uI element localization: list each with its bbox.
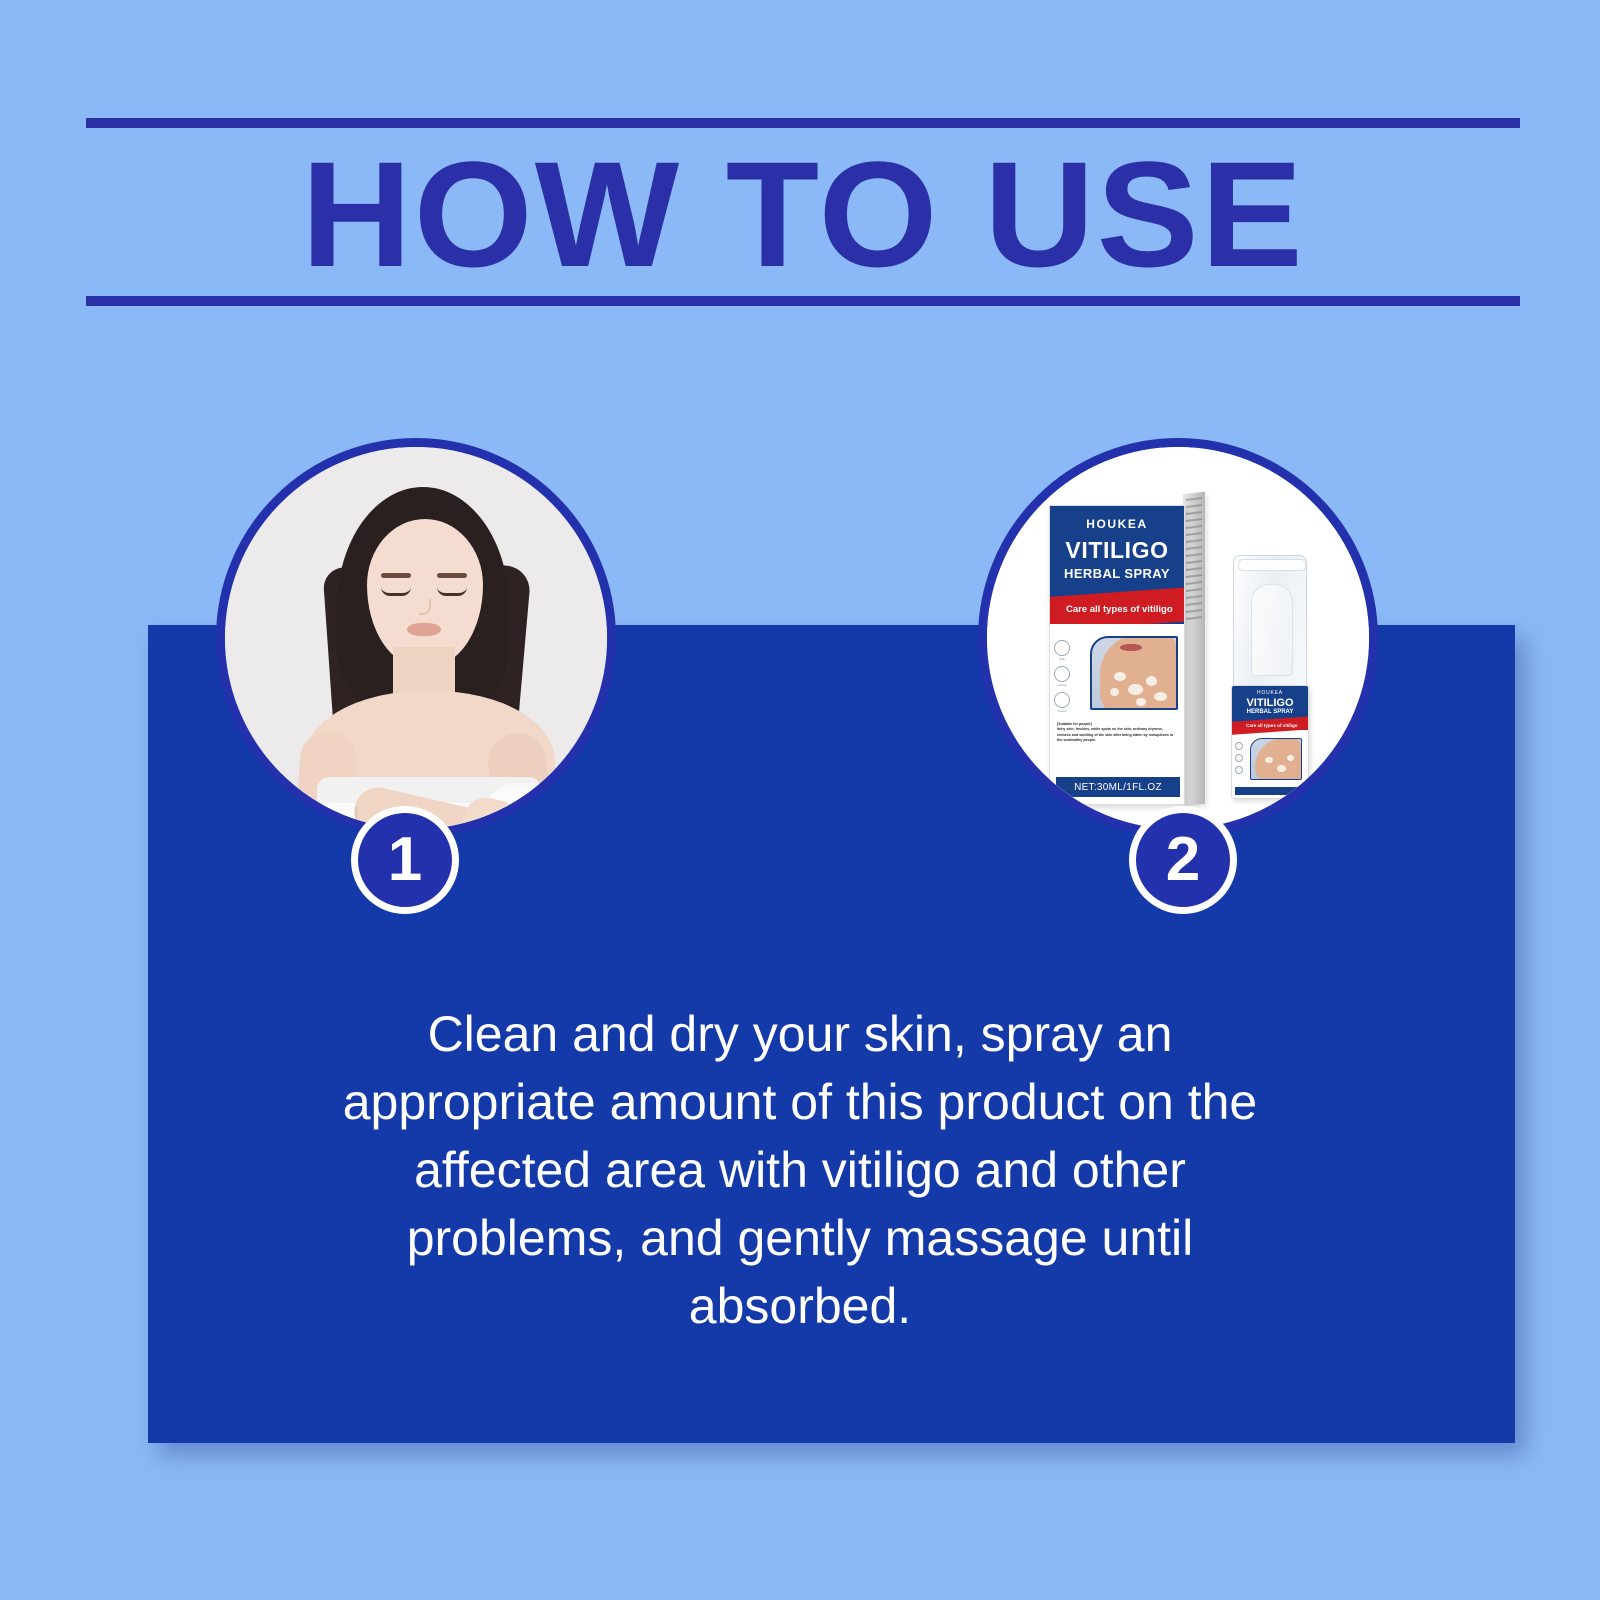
product-box-model-photo [1090, 636, 1178, 710]
fineprint-body: Itchy skin, freckles, white spots on the… [1057, 727, 1177, 743]
step-1-circle-frame [216, 438, 616, 838]
quality-approved-badge-label: Tested [1050, 709, 1074, 713]
safe-ingredients-badge-icon [1054, 640, 1070, 656]
eyebrow-left [381, 573, 411, 578]
product-box-front: HOUKEA VITILIGO HERBAL SPRAY Care all ty… [1049, 505, 1185, 805]
bottle-product-name: VITILIGO [1232, 697, 1308, 709]
bottle-product-subtitle: HERBAL SPRAY [1232, 709, 1308, 715]
vitiligo-patch [1114, 672, 1126, 681]
instruction-text: Clean and dry your skin, spray an approp… [330, 1000, 1270, 1340]
eye-right [437, 587, 467, 596]
product-net-content-bar: NET:30ML/1FL.OZ [1056, 777, 1180, 797]
product-box-side-panel [1183, 492, 1205, 807]
vitiligo-herbal-spray-product-photo: HOUKEA VITILIGO HERBAL SPRAY Care all ty… [987, 447, 1369, 829]
vitiligo-patch [1265, 757, 1273, 763]
step-2-image-circle: HOUKEA VITILIGO HERBAL SPRAY Care all ty… [978, 438, 1378, 838]
product-banner-text: Care all types of vitiligo [1066, 604, 1173, 615]
bottle-pump-head [1251, 584, 1293, 676]
vitiligo-patch [1136, 698, 1146, 706]
page-title: HOW TO USE [72, 128, 1535, 296]
woman-with-towel-photo [225, 447, 607, 829]
safe-ingredients-badge-icon [1235, 742, 1243, 750]
product-fineprint: [Suitable for people] Itchy skin, freckl… [1057, 722, 1177, 744]
bottle-body-label: HOUKEA VITILIGO HERBAL SPRAY Care all ty… [1231, 685, 1309, 799]
header-block: HOW TO USE [86, 118, 1520, 306]
bottle-cap-top [1238, 559, 1306, 571]
bottle-net-content-bar [1235, 787, 1307, 795]
vitiligo-patch [1277, 765, 1286, 772]
eye-left [381, 587, 411, 596]
vitiligo-patch [1110, 688, 1119, 696]
plant-extract-badge-icon [1235, 754, 1243, 762]
bottle-banner: Care all types of vitiligo [1231, 716, 1309, 735]
quality-approved-badge-icon [1235, 766, 1243, 774]
plant-extract-badge-icon [1054, 666, 1070, 682]
bottle-banner-text: Care all types of vitiligo [1246, 723, 1298, 728]
lips [407, 623, 441, 636]
step-2-circle-frame: HOUKEA VITILIGO HERBAL SPRAY Care all ty… [978, 438, 1378, 838]
bottle-cap [1233, 555, 1307, 689]
model-skin [1255, 738, 1301, 780]
product-box-header: HOUKEA VITILIGO HERBAL SPRAY Care all ty… [1050, 506, 1184, 624]
product-net-content: NET:30ML/1FL.OZ [1074, 782, 1162, 793]
vitiligo-patch [1154, 692, 1167, 701]
spray-bottle: HOUKEA VITILIGO HERBAL SPRAY Care all ty… [1231, 555, 1309, 799]
safe-ingredients-badge-label: Safe [1050, 657, 1074, 661]
step-1-number-badge: 1 [351, 806, 459, 914]
product-subtitle: HERBAL SPRAY [1050, 566, 1184, 581]
bottle-cert-badges [1235, 742, 1247, 778]
eyebrow-right [437, 573, 467, 578]
step-1-image-circle [216, 438, 616, 838]
product-brand: HOUKEA [1050, 517, 1184, 531]
model-lips [1120, 644, 1142, 651]
step-2-number-badge: 2 [1129, 806, 1237, 914]
vitiligo-patch [1287, 755, 1294, 761]
product-name: VITILIGO [1050, 537, 1184, 564]
bottle-model-photo [1250, 738, 1302, 780]
plant-extract-badge-label: Herbal [1050, 683, 1074, 687]
vitiligo-patch [1146, 676, 1157, 686]
vitiligo-patch [1128, 684, 1143, 695]
bottle-brand: HOUKEA [1232, 690, 1308, 696]
quality-approved-badge-icon [1054, 692, 1070, 708]
title-top-rule [86, 118, 1520, 128]
bottle-label-header: HOUKEA VITILIGO HERBAL SPRAY Care all ty… [1232, 686, 1308, 730]
infographic-canvas: HOW TO USE [0, 0, 1600, 1600]
